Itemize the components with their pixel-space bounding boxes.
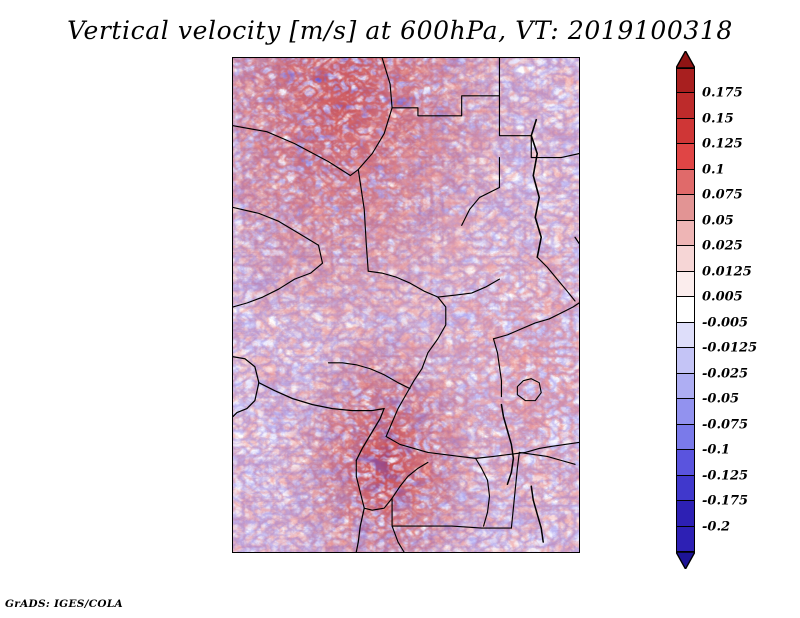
colorbar[interactable]: 0.1750.150.1250.10.0750.050.0250.01250.0…	[676, 68, 695, 552]
colorbar-segment	[676, 374, 695, 399]
colorbar-segment	[676, 527, 695, 552]
colorbar-tick-label: 0.175	[702, 86, 743, 101]
colorbar-segment	[676, 348, 695, 373]
colorbar-segment	[676, 476, 695, 501]
colorbar-tick-label: -0.075	[702, 417, 748, 432]
vertical-velocity-field	[233, 58, 579, 552]
colorbar-top-arrow-icon	[676, 51, 695, 68]
colorbar-tick-label: 0.005	[702, 290, 743, 305]
colorbar-tick-label: 0.025	[702, 239, 743, 254]
colorbar-segment	[676, 119, 695, 144]
colorbar-tick-label: 0.075	[702, 188, 743, 203]
colorbar-segment	[676, 272, 695, 297]
grads-credit: GrADS: IGES/COLA	[5, 598, 123, 610]
colorbar-segment	[676, 323, 695, 348]
colorbar-segment	[676, 450, 695, 475]
colorbar-tick-label: -0.2	[702, 519, 730, 534]
colorbar-tick-label: 0.05	[702, 213, 734, 228]
colorbar-segment	[676, 297, 695, 322]
colorbar-tick-label: -0.05	[702, 392, 739, 407]
colorbar-tick-label: -0.005	[702, 315, 748, 330]
colorbar-segment	[676, 93, 695, 118]
colorbar-segment	[676, 68, 695, 93]
colorbar-tick-label: 0.125	[702, 137, 743, 152]
colorbar-segment	[676, 195, 695, 220]
colorbar-segment	[676, 399, 695, 424]
colorbar-segment	[676, 425, 695, 450]
colorbar-segment	[676, 170, 695, 195]
colorbar-tick-label: -0.175	[702, 494, 748, 509]
colorbar-tick-label: -0.0125	[702, 341, 757, 356]
colorbar-tick-label: -0.025	[702, 366, 748, 381]
colorbar-tick-label: 0.15	[702, 111, 734, 126]
colorbar-tick-label: -0.125	[702, 468, 748, 483]
colorbar-bottom-arrow-icon	[676, 552, 695, 569]
map-plot-area[interactable]: 20N 15N 10N 5N EQ 5S 10S 15S 3E 6E 9E 12…	[232, 57, 580, 553]
colorbar-segment	[676, 246, 695, 271]
colorbar-tick-label: 0.1	[702, 162, 725, 177]
colorbar-tick-label: -0.1	[702, 443, 730, 458]
colorbar-tick-label: 0.0125	[702, 264, 752, 279]
colorbar-segment	[676, 221, 695, 246]
colorbar-segment	[676, 144, 695, 169]
colorbar-segment	[676, 501, 695, 526]
page-title: Vertical velocity [m/s] at 600hPa, VT: 2…	[0, 16, 800, 45]
